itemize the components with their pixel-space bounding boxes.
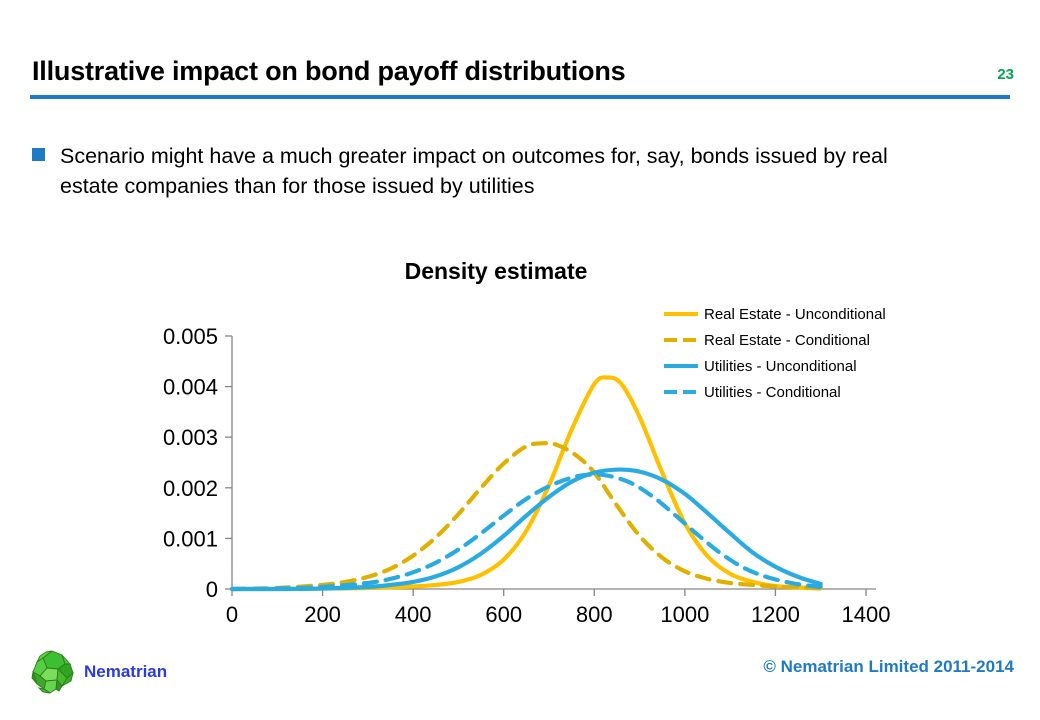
x-tick-label: 1000 (660, 602, 709, 627)
legend-swatch-icon (664, 385, 698, 399)
legend-label: Utilities - Unconditional (704, 358, 857, 375)
y-tick-label: 0 (206, 577, 218, 602)
footer-logo[interactable]: Nematrian (28, 648, 167, 696)
chart-series (232, 377, 821, 589)
chart-y-tick-labels: 00.0010.0020.0030.0040.005 (163, 324, 218, 602)
copyright-notice: © Nematrian Limited 2011-2014 (763, 657, 1014, 677)
y-tick-label: 0.005 (163, 324, 218, 349)
legend-swatch-icon (664, 359, 698, 373)
page-number: 23 (997, 66, 1014, 83)
y-tick-label: 0.002 (163, 476, 218, 501)
legend-item[interactable]: Utilities - Conditional (664, 379, 974, 405)
x-tick-label: 1200 (751, 602, 800, 627)
logo-wordmark: Nematrian (84, 662, 167, 682)
legend-label: Utilities - Conditional (704, 384, 841, 401)
legend-label: Real Estate - Conditional (704, 332, 870, 349)
page-title: Illustrative impact on bond payoff distr… (32, 56, 625, 87)
slide: Illustrative impact on bond payoff distr… (0, 0, 1040, 720)
legend-swatch-icon (664, 307, 698, 321)
y-tick-label: 0.004 (163, 375, 218, 400)
title-divider (30, 95, 1010, 99)
bullet-list: Scenario might have a much greater impac… (32, 141, 972, 201)
legend-item[interactable]: Real Estate - Conditional (664, 327, 974, 353)
legend-item[interactable]: Real Estate - Unconditional (664, 301, 974, 327)
bullet-item-text: Scenario might have a much greater impac… (60, 141, 940, 201)
series-line-0 (232, 377, 821, 589)
legend-item[interactable]: Utilities - Unconditional (664, 353, 974, 379)
chart-legend: Real Estate - UnconditionalReal Estate -… (664, 301, 974, 405)
chart-x-tick-labels: 0200400600800100012001400 (226, 602, 891, 627)
x-tick-label: 0 (226, 602, 238, 627)
legend-label: Real Estate - Unconditional (704, 306, 886, 323)
x-tick-label: 400 (395, 602, 432, 627)
x-tick-label: 800 (576, 602, 613, 627)
x-tick-label: 200 (304, 602, 341, 627)
x-tick-label: 1400 (842, 602, 891, 627)
nematrian-polyhedron-logo-icon (28, 648, 76, 696)
legend-swatch-icon (664, 333, 698, 347)
y-tick-label: 0.003 (163, 425, 218, 450)
y-tick-label: 0.001 (163, 526, 218, 551)
x-tick-label: 600 (485, 602, 522, 627)
density-estimate-chart: Density estimate 02004006008001000120014… (0, 248, 1040, 638)
bullet-square-icon (32, 148, 45, 161)
